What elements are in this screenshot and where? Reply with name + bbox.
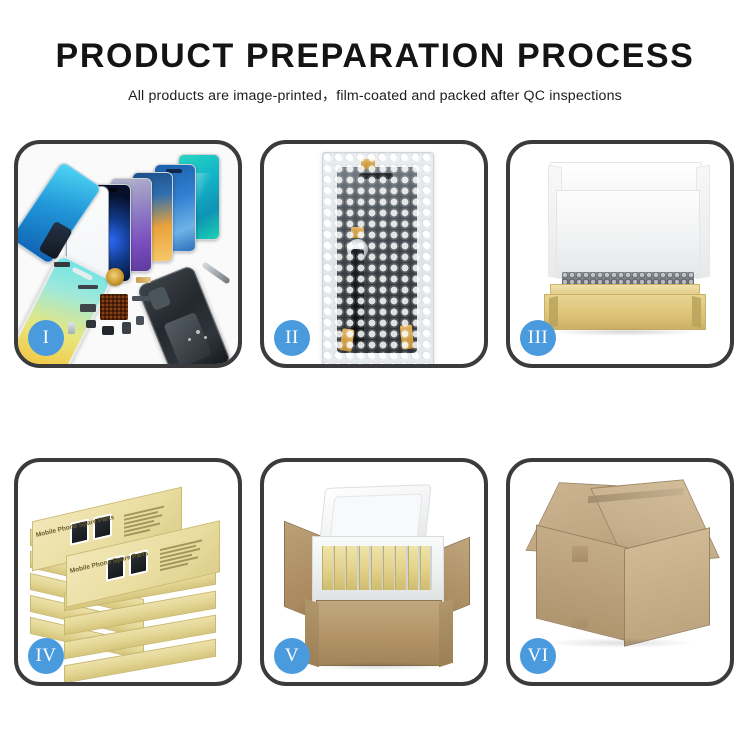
small-part-icon [86, 320, 96, 328]
bubble-wrap-bag-icon [322, 152, 434, 364]
gold-box-icon [408, 546, 419, 590]
gold-box-icon [359, 546, 370, 590]
tape-icon [361, 159, 375, 169]
carton-shadow [310, 662, 446, 670]
tape-icon [351, 227, 364, 238]
foam-cavity [322, 546, 432, 590]
small-part-icon [122, 322, 131, 334]
carton-shadow [544, 638, 696, 648]
box-lid-icon [556, 190, 700, 278]
process-step-panel-1[interactable]: I [14, 140, 242, 368]
page-header: PRODUCT PREPARATION PROCESS All products… [0, 0, 750, 105]
step-badge-6: VI [520, 638, 556, 674]
screw-icon [204, 336, 207, 339]
gold-box-icon [420, 546, 431, 590]
process-step-panel-4[interactable]: Mobile Phone Spare Parts Mobile Phone Sp… [14, 458, 242, 686]
box-shadow [550, 328, 700, 336]
step-badge-1: I [28, 320, 64, 356]
process-step-panel-5[interactable]: V [260, 458, 488, 686]
small-part-icon [136, 316, 144, 325]
step-badge-5: V [274, 638, 310, 674]
step-badge-4: IV [28, 638, 64, 674]
tweezers-icon [201, 261, 231, 284]
process-step-panel-2[interactable]: II [260, 140, 488, 368]
chip-grid-icon [100, 294, 128, 320]
process-step-panel-3[interactable]: III [506, 140, 734, 368]
gold-connector-icon [136, 277, 151, 283]
antenna-strip-icon [54, 262, 70, 267]
small-part-icon [80, 304, 96, 312]
screw-icon [196, 330, 200, 334]
flex-cable-icon [132, 296, 150, 301]
carton-tape-icon [572, 546, 588, 562]
flex-cable-icon [78, 285, 98, 289]
page-subtitle: All products are image-printed，film-coat… [0, 85, 750, 105]
gold-box-icon [395, 546, 406, 590]
process-step-grid: I II III [14, 140, 736, 686]
carton-body-icon [316, 600, 442, 666]
tape-icon [400, 324, 414, 349]
sim-tray-icon [68, 322, 75, 334]
gold-box-icon [334, 546, 345, 590]
screw-icon [188, 338, 191, 341]
step-badge-3: III [520, 320, 556, 356]
page-title: PRODUCT PREPARATION PROCESS [0, 38, 750, 75]
gold-box-icon [371, 546, 382, 590]
gold-box-icon [322, 546, 333, 590]
process-step-panel-6[interactable]: VI [506, 458, 734, 686]
speaker-coil-icon [106, 268, 124, 286]
step-badge-2: II [274, 320, 310, 356]
gold-box-icon [383, 546, 394, 590]
carton-face-right-icon [624, 527, 710, 646]
camera-module-icon [102, 326, 114, 335]
box-front-icon [544, 294, 706, 330]
gold-box-icon [346, 546, 357, 590]
carton-tape-icon [572, 612, 588, 628]
